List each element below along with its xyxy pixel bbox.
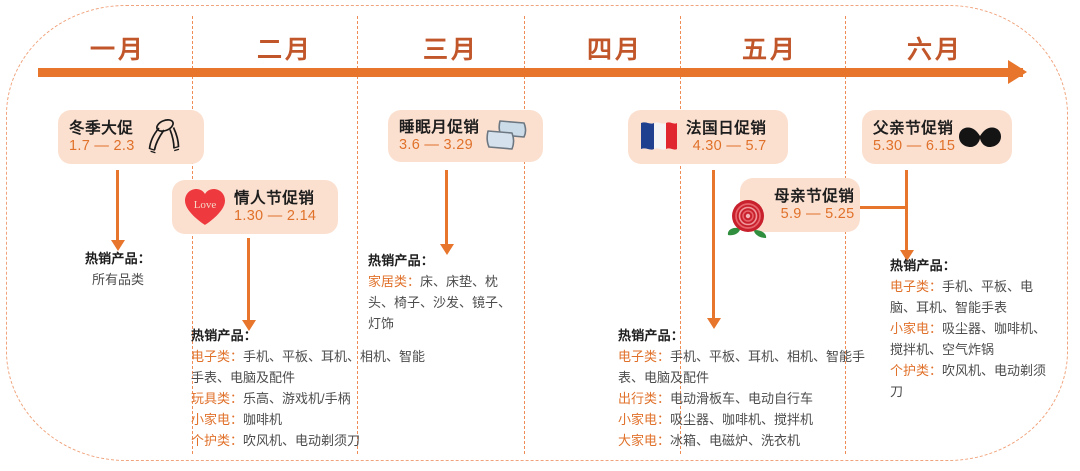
detail-line: 个护类：吹风机、电动剃须刀	[890, 360, 1050, 402]
detail-line: 个护类：吹风机、电动剃须刀	[191, 430, 436, 451]
detail-header-winter: 热销产品：	[48, 248, 188, 269]
connector-france	[712, 170, 715, 320]
heart-love-icon: Love	[183, 187, 227, 227]
month-label-june: 六月	[865, 30, 1005, 66]
detail-items: 所有品类	[92, 272, 144, 287]
event-card-fathers-text: 父亲节促销 5.30 — 6.15	[873, 120, 955, 154]
event-title-fathers: 父亲节促销	[873, 120, 955, 137]
month-label-april: 四月	[545, 30, 685, 66]
detail-line: 电子类：手机、平板、耳机、相机、智能手表、电脑及配件	[618, 346, 886, 388]
detail-items: 乐高、游戏机/手柄	[243, 391, 351, 406]
month-divider-3	[524, 16, 525, 454]
mustache-icon	[957, 122, 1003, 152]
connector-winter	[116, 170, 119, 242]
event-card-valentine[interactable]: Love 情人节促销 1.30 — 2.14	[172, 180, 338, 234]
event-title-valentine: 情人节促销	[234, 190, 316, 207]
event-card-sleep[interactable]: 睡眠月促销 3.6 — 3.29	[388, 110, 543, 162]
month-label-may: 五月	[700, 30, 840, 66]
event-title-france: 法国日促销	[686, 120, 767, 137]
event-card-valentine-text: 情人节促销 1.30 — 2.14	[234, 190, 316, 224]
month-label-february: 二月	[215, 30, 355, 66]
detail-category: 电子类：	[191, 349, 243, 364]
detail-category: 大家电：	[618, 433, 670, 448]
event-dates-france: 4.30 — 5.7	[686, 138, 767, 154]
connector-sleep	[445, 170, 448, 246]
scarf-icon	[140, 116, 182, 158]
detail-header-fathers: 热销产品：	[890, 255, 1050, 276]
timeline-arrow-head-icon	[1008, 60, 1027, 84]
france-flag-icon	[639, 120, 679, 154]
event-card-winter[interactable]: 冬季大促 1.7 — 2.3	[58, 110, 204, 164]
detail-line: 电子类：手机、平板、耳机、相机、智能手表、电脑及配件	[191, 346, 436, 388]
detail-category: 电子类：	[890, 279, 942, 294]
event-title-sleep: 睡眠月促销	[399, 119, 480, 136]
detail-block-france: 热销产品： 电子类：手机、平板、耳机、相机、智能手表、电脑及配件 出行类：电动滑…	[618, 325, 886, 451]
rose-icon	[724, 192, 776, 244]
detail-header-france: 热销产品：	[618, 325, 886, 346]
heart-love-label: Love	[194, 199, 217, 211]
connector-fathers	[905, 170, 908, 252]
detail-line: 小家电：吸尘器、咖啡机、搅拌机、空气炸锅	[890, 318, 1050, 360]
event-dates-valentine: 1.30 — 2.14	[234, 208, 316, 224]
month-label-march: 三月	[381, 30, 521, 66]
detail-line: 出行类：电动滑板车、电动自行车	[618, 388, 886, 409]
detail-category: 个护类：	[890, 363, 942, 378]
event-title-winter: 冬季大促	[69, 120, 135, 137]
event-dates-mothers: 5.9 — 5.25	[774, 206, 855, 222]
detail-category: 家居类：	[368, 274, 420, 289]
detail-line: 小家电：吸尘器、咖啡机、搅拌机	[618, 409, 886, 430]
detail-items: 咖啡机	[243, 412, 282, 427]
event-card-mothers-text: 母亲节促销 5.9 — 5.25	[774, 188, 855, 222]
event-card-france-text: 法国日促销 4.30 — 5.7	[686, 120, 767, 154]
event-card-fathers[interactable]: 父亲节促销 5.30 — 6.15	[862, 110, 1012, 164]
detail-category: 小家电：	[191, 412, 243, 427]
detail-block-sleep: 热销产品： 家居类：床、床垫、枕头、椅子、沙发、镜子、灯饰	[368, 250, 514, 334]
event-card-mothers[interactable]: 母亲节促销 5.9 — 5.25	[740, 178, 860, 232]
detail-category: 小家电：	[890, 321, 942, 336]
connector-valentine	[247, 238, 250, 322]
detail-block-fathers: 热销产品： 电子类：手机、平板、电脑、耳机、智能手表 小家电：吸尘器、咖啡机、搅…	[890, 255, 1050, 402]
detail-items: 吸尘器、咖啡机、搅拌机	[670, 412, 813, 427]
timeline-infographic: 一月 二月 三月 四月 五月 六月 冬季大促 1.7 — 2.3	[0, 0, 1080, 471]
month-label-january: 一月	[48, 30, 188, 66]
detail-line: 大家电：冰箱、电磁炉、洗衣机	[618, 430, 886, 451]
detail-category: 玩具类：	[191, 391, 243, 406]
detail-line: 家居类：床、床垫、枕头、椅子、沙发、镜子、灯饰	[368, 271, 514, 334]
detail-category: 个护类：	[191, 433, 243, 448]
event-dates-sleep: 3.6 — 3.29	[399, 137, 480, 153]
detail-items: 吹风机、电动剃须刀	[243, 433, 360, 448]
detail-line: 小家电：咖啡机	[191, 409, 436, 430]
detail-header-sleep: 热销产品：	[368, 250, 514, 271]
event-dates-fathers: 5.30 — 6.15	[873, 138, 955, 154]
detail-items: 电动滑板车、电动自行车	[670, 391, 813, 406]
detail-block-valentine: 热销产品： 电子类：手机、平板、耳机、相机、智能手表、电脑及配件 玩具类：乐高、…	[191, 325, 436, 451]
detail-category: 电子类：	[618, 349, 670, 364]
timeline-axis	[38, 68, 1023, 77]
detail-items: 冰箱、电磁炉、洗衣机	[670, 433, 800, 448]
event-dates-winter: 1.7 — 2.3	[69, 138, 135, 154]
pillow-icon	[485, 118, 527, 154]
event-card-sleep-text: 睡眠月促销 3.6 — 3.29	[399, 119, 480, 153]
detail-category: 出行类：	[618, 391, 670, 406]
event-card-france[interactable]: 法国日促销 4.30 — 5.7	[628, 110, 788, 164]
detail-line: 玩具类：乐高、游戏机/手柄	[191, 388, 436, 409]
event-card-winter-text: 冬季大促 1.7 — 2.3	[69, 120, 135, 154]
detail-line: 所有品类	[48, 269, 188, 290]
detail-category: 小家电：	[618, 412, 670, 427]
detail-block-winter: 热销产品： 所有品类	[48, 248, 188, 290]
connector-mothers	[858, 206, 908, 209]
detail-line: 电子类：手机、平板、电脑、耳机、智能手表	[890, 276, 1050, 318]
event-title-mothers: 母亲节促销	[774, 188, 855, 205]
